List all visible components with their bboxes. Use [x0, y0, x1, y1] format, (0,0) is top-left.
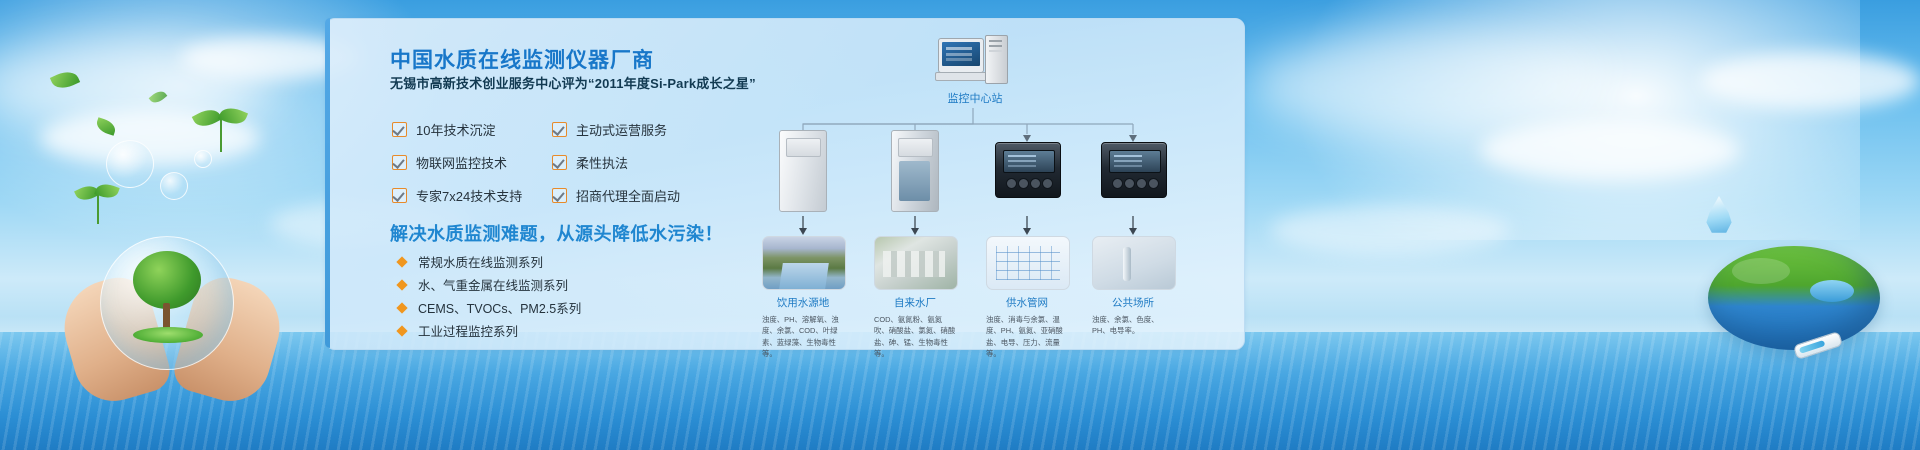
scenario-description: 浊度、余氯、色度、PH、电导率。	[1092, 314, 1174, 337]
grass-patch	[133, 327, 203, 343]
series-label: 常规水质在线监测系列	[418, 252, 543, 271]
analyzer-display	[1109, 150, 1161, 173]
product-series-list: 常规水质在线监测系列 水、气重金属在线监测系列 CEMS、TVOCs、PM2.5…	[398, 250, 581, 342]
panel-left-accent	[325, 18, 330, 348]
bubble-small-3	[194, 150, 212, 168]
cloud-5	[1480, 120, 1740, 180]
scenario-thumbnail	[762, 236, 846, 290]
cabinet-icon	[891, 130, 939, 212]
scenario-caption: 自来水厂	[874, 295, 956, 310]
page-title: 中国水质在线监测仪器厂商	[390, 44, 654, 74]
sprout-icon-2	[76, 186, 122, 228]
scenario-card[interactable]: 自来水厂 COD、氨氮粉、氨氮吹、硝酸盐、氯氮、硝酸盐、砷、锰、生物毒性等。	[874, 236, 956, 360]
analyzer-buttons	[1112, 176, 1156, 190]
checkbox-checked-icon	[552, 188, 567, 203]
scenario-description: COD、氨氮粉、氨氮吹、硝酸盐、氯氮、硝酸盐、砷、锰、生物毒性等。	[874, 314, 956, 360]
bubble-small-1	[106, 140, 154, 188]
checkbox-checked-icon	[392, 155, 407, 170]
scenario-card[interactable]: 公共场所 浊度、余氯、色度、PH、电导率。	[1092, 236, 1174, 337]
page-subtitle: 无锡市高新技术创业服务中心评为“2011年度Si-Park成长之星”	[390, 73, 756, 92]
diamond-bullet-icon	[396, 302, 407, 313]
series-label: 水、气重金属在线监测系列	[418, 275, 568, 294]
feature-checklist: 10年技术沉淀 主动式运营服务 物联网监控技术 柔性执法 专家7x24技术支持 …	[392, 120, 712, 219]
scenario-caption: 供水管网	[986, 295, 1068, 310]
globe-lake	[1810, 280, 1854, 302]
checkbox-checked-icon	[392, 188, 407, 203]
monitoring-architecture-diagram: 监控中心站	[745, 28, 1215, 338]
analyzer-icon	[1101, 142, 1167, 198]
device-row	[745, 124, 1215, 214]
feature-row: 专家7x24技术支持 招商代理全面启动	[392, 186, 712, 205]
diamond-bullet-icon	[396, 256, 407, 267]
list-item[interactable]: 工业过程监控系列	[398, 319, 581, 342]
feature-row: 物联网监控技术 柔性执法	[392, 153, 712, 172]
feature-item[interactable]: 物联网监控技术	[392, 153, 552, 172]
globe-icon	[1708, 246, 1880, 350]
list-item[interactable]: 水、气重金属在线监测系列	[398, 273, 581, 296]
sprout-icon-1	[196, 108, 246, 154]
diamond-bullet-icon	[396, 325, 407, 336]
series-label: CEMS、TVOCs、PM2.5系列	[418, 298, 581, 317]
analyzer-icon	[995, 142, 1061, 198]
checkbox-checked-icon	[552, 155, 567, 170]
droplet-icon	[1704, 196, 1734, 236]
feature-item[interactable]: 柔性执法	[552, 153, 712, 172]
feature-label: 柔性执法	[576, 153, 628, 172]
feature-row: 10年技术沉淀 主动式运营服务	[392, 120, 712, 139]
scenario-caption: 公共场所	[1092, 295, 1174, 310]
monitor-icon	[938, 38, 984, 73]
water-bubble	[100, 236, 234, 370]
feature-label: 招商代理全面启动	[576, 186, 680, 205]
scenario-thumbnail	[986, 236, 1070, 290]
analyzer-buttons	[1006, 176, 1050, 190]
keyboard-icon	[935, 72, 987, 81]
control-center-computer-icon	[938, 38, 1008, 86]
analyzer-display	[1003, 150, 1055, 173]
device-analyzer-1	[991, 124, 1063, 212]
feature-label: 物联网监控技术	[416, 153, 507, 172]
monitor-screen	[942, 42, 980, 66]
pc-tower-icon	[985, 35, 1008, 84]
section-heading: 解决水质监测难题，从源头降低水污染！	[390, 220, 723, 246]
list-item[interactable]: CEMS、TVOCs、PM2.5系列	[398, 296, 581, 319]
green-globe-illustration	[1694, 232, 1894, 372]
scenario-description: 浊度、PH、溶解氧、浊度、余氯、COD、叶绿素、蓝绿藻、生物毒性等。	[762, 314, 844, 360]
checkbox-checked-icon	[552, 122, 567, 137]
device-cabinet-2	[879, 124, 951, 212]
scenario-card[interactable]: 饮用水源地 浊度、PH、溶解氧、浊度、余氯、COD、叶绿素、蓝绿藻、生物毒性等。	[762, 236, 844, 360]
cabinet-icon	[779, 130, 827, 212]
feature-item[interactable]: 主动式运营服务	[552, 120, 712, 139]
scenario-caption: 饮用水源地	[762, 295, 844, 310]
checkbox-checked-icon	[392, 122, 407, 137]
water-droplet-illustration	[1704, 196, 1734, 236]
device-analyzer-2	[1097, 124, 1169, 212]
feature-label: 专家7x24技术支持	[416, 186, 522, 205]
scenario-card[interactable]: 供水管网 浊度、消毒与余氯、温度、PH、氨氮、亚硝酸盐、电导、压力、流量等。	[986, 236, 1068, 360]
feature-label: 10年技术沉淀	[416, 120, 495, 139]
feature-label: 主动式运营服务	[576, 120, 667, 139]
feature-item[interactable]: 10年技术沉淀	[392, 120, 552, 139]
cloud-8	[1270, 205, 1510, 255]
device-cabinet-1	[767, 124, 839, 212]
hub-label: 监控中心站	[905, 90, 1045, 106]
feature-item[interactable]: 招商代理全面启动	[552, 186, 712, 205]
hands-holding-tree-illustration	[62, 230, 282, 400]
scenario-thumbnail	[874, 236, 958, 290]
series-label: 工业过程监控系列	[418, 321, 518, 340]
tree-canopy	[133, 251, 201, 309]
scenario-description: 浊度、消毒与余氯、温度、PH、氨氮、亚硝酸盐、电导、压力、流量等。	[986, 314, 1068, 360]
cloud-6	[1700, 52, 1920, 110]
feature-item[interactable]: 专家7x24技术支持	[392, 186, 552, 205]
bubble-small-2	[160, 172, 188, 200]
diamond-bullet-icon	[396, 279, 407, 290]
list-item[interactable]: 常规水质在线监测系列	[398, 250, 581, 273]
scenario-thumbnail	[1092, 236, 1176, 290]
